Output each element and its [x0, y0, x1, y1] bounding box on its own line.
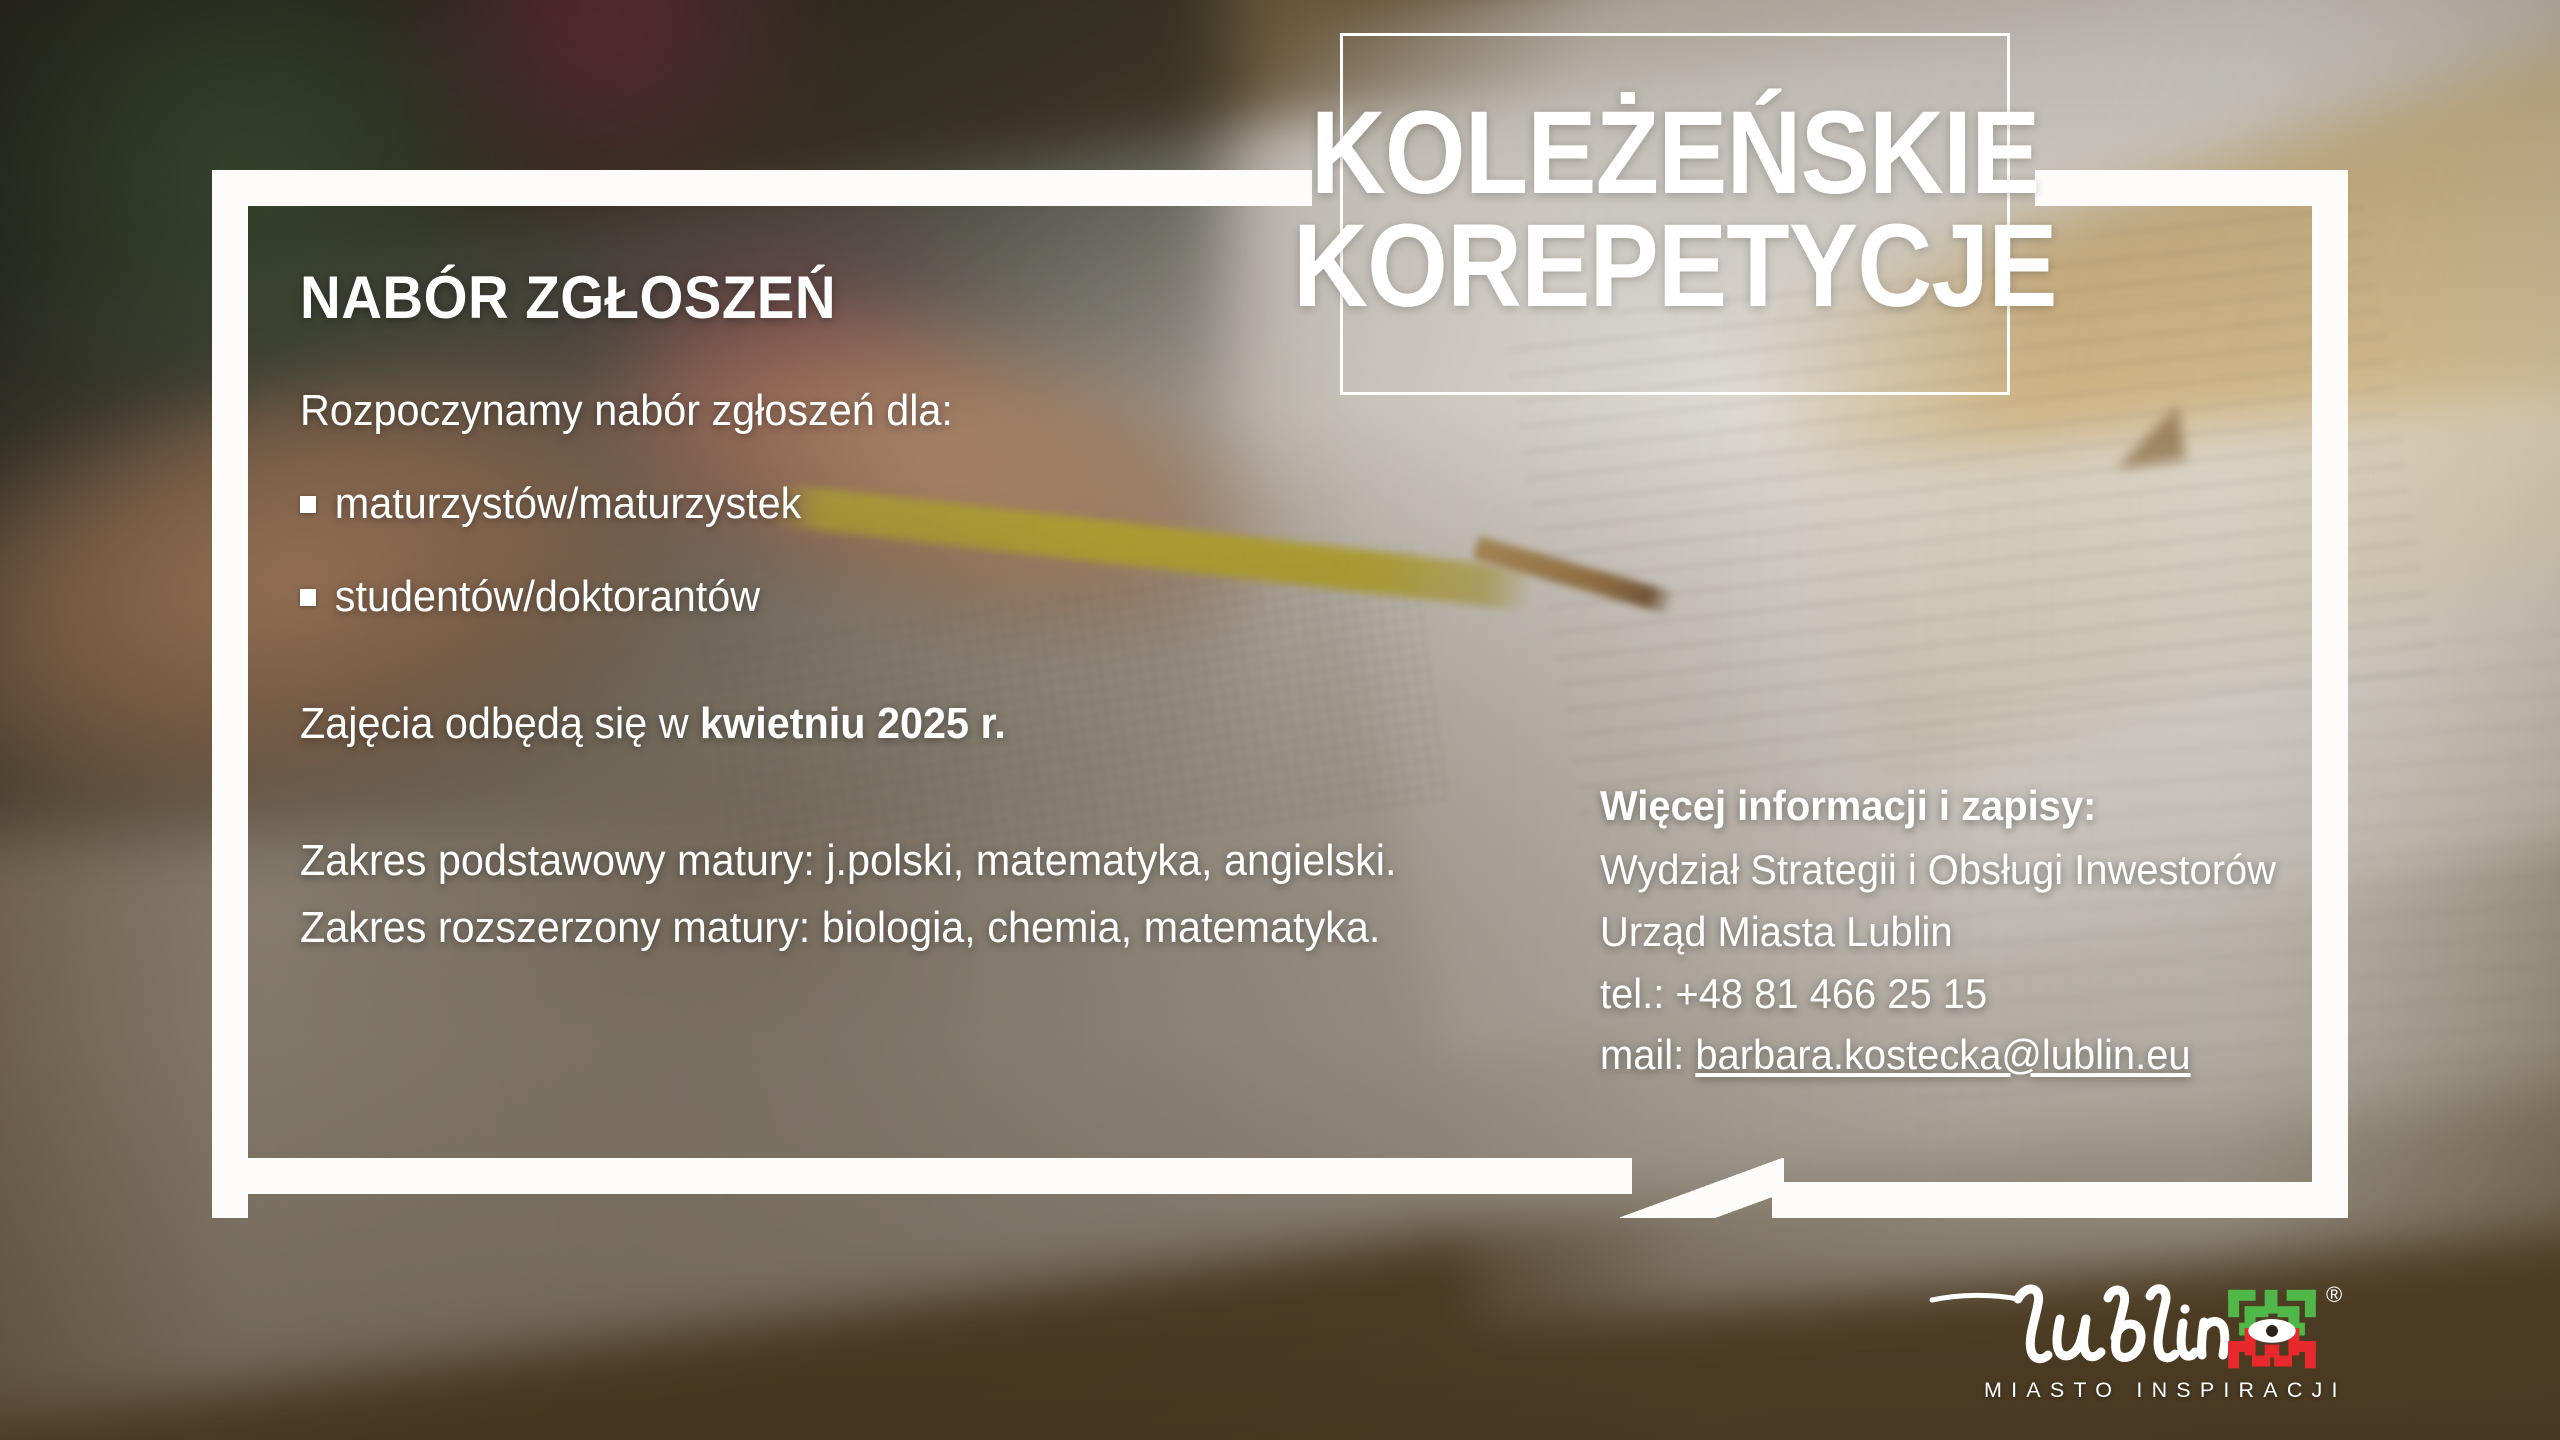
- contact-mail-label: mail:: [1600, 1031, 1695, 1078]
- contact-department: Wydział Strategii i Obsługi Inwestorów: [1600, 842, 2303, 898]
- list-item-label: maturzystów/maturzystek: [335, 475, 802, 534]
- title-line-1: KOLEŻEŃSKIE: [1311, 97, 2040, 210]
- page-title: NABÓR ZGŁOSZEŃ: [300, 268, 2180, 328]
- contact-block: Więcej informacji i zapisy: Wydział Stra…: [1600, 778, 2303, 1089]
- list-item: studentów/doktorantów: [300, 568, 2180, 627]
- lublin-logo: ® MIASTO INSPIRACJI: [1930, 1278, 2350, 1418]
- schedule-line: Zajęcia odbędą się w kwietniu 2025 r.: [300, 695, 2180, 754]
- lublin-tagline: MIASTO INSPIRACJI: [1984, 1378, 2347, 1403]
- schedule-date: kwietniu 2025 r.: [700, 699, 1006, 748]
- contact-email-link[interactable]: barbara.kostecka@lublin.eu: [1695, 1031, 2190, 1078]
- square-bullet-icon: [300, 589, 316, 606]
- schedule-prefix: Zajęcia odbędą się w: [300, 699, 700, 748]
- registered-trademark-icon: ®: [2326, 1284, 2342, 1306]
- contact-heading: Więcej informacji i zapisy:: [1600, 778, 2303, 834]
- list-item-label: studentów/doktorantów: [335, 568, 760, 627]
- contact-office: Urząd Miasta Lublin: [1600, 904, 2303, 960]
- square-bullet-icon: [300, 496, 316, 513]
- lead-paragraph: Rozpoczynamy nabór zgłoszeń dla:: [300, 382, 2180, 441]
- contact-mail-line: mail: barbara.kostecka@lublin.eu: [1600, 1027, 2303, 1083]
- audience-list: maturzystów/maturzystek studentów/doktor…: [300, 475, 2180, 627]
- lublin-wordmark-icon: [1930, 1278, 2230, 1373]
- contact-phone: tel.: +48 81 466 25 15: [1600, 966, 2303, 1022]
- lublin-goat-emblem-icon: [2226, 1288, 2318, 1372]
- poster-canvas: KOLEŻEŃSKIE KOREPETYCJE NABÓR ZGŁOSZEŃ R…: [0, 0, 2560, 1440]
- list-item: maturzystów/maturzystek: [300, 475, 2180, 534]
